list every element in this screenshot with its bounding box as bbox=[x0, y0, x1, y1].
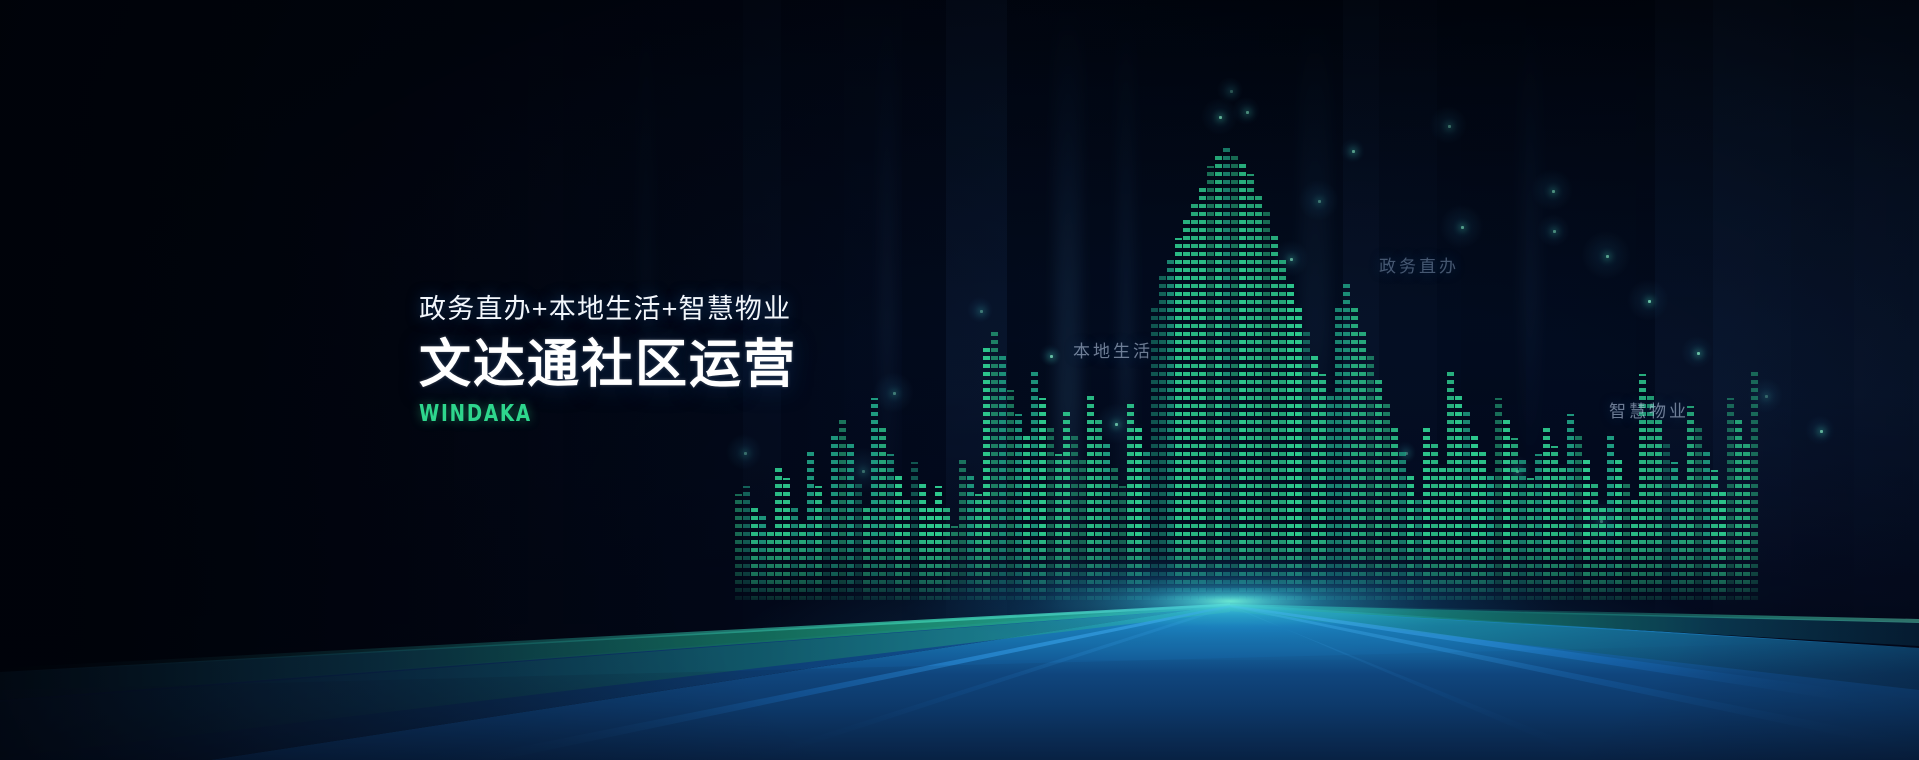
perspective-ground-plane bbox=[0, 0, 1919, 760]
brand-wordmark: WINDAKA bbox=[419, 400, 721, 428]
banner-title: 文达通社区运营 bbox=[419, 334, 797, 396]
city-label-gov-service: 政务直办 bbox=[1379, 252, 1459, 277]
city-label-smart-estate: 智慧物业 bbox=[1609, 397, 1689, 422]
banner-stage: 本地生活政务直办智慧物业 政务直办+本地生活+智慧物业 文达通社区运营 WIND… bbox=[0, 0, 1919, 760]
headline-block: 政务直办+本地生活+智慧物业 文达通社区运营 WINDAKA bbox=[419, 292, 797, 428]
banner-subtitle: 政务直办+本地生活+智慧物业 bbox=[419, 292, 797, 326]
city-label-local-life: 本地生活 bbox=[1073, 337, 1153, 362]
